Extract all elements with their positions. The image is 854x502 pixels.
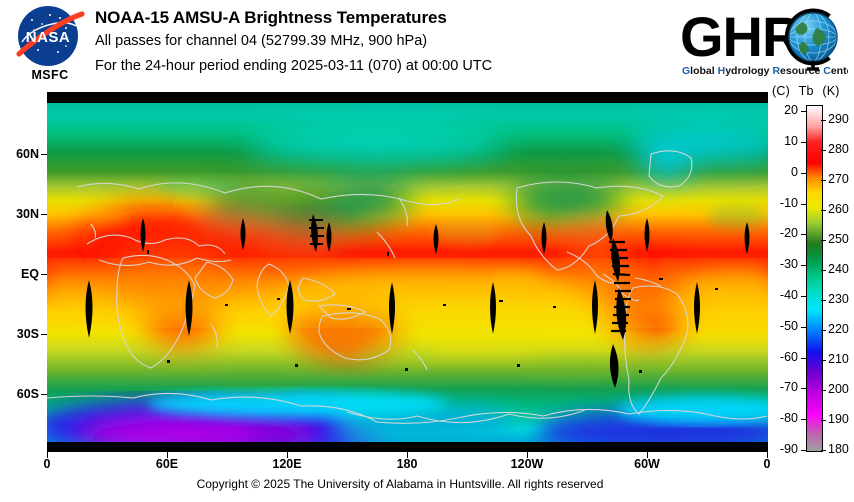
lat-tick-60n [41, 154, 47, 155]
lat-label-eq: EQ [0, 267, 39, 281]
colorbar-tick-c--70 [801, 388, 806, 389]
colorbar-tick-c--90 [801, 450, 806, 451]
colorbar-tick-k-240 [821, 270, 826, 271]
colorbar-label-k-180: 180 [828, 442, 854, 456]
copyright-text: Copyright © 2025 The University of Alaba… [0, 477, 800, 491]
colorbar-header: (C) Tb (K) [772, 84, 854, 98]
colorbar-tick-c--80 [801, 419, 806, 420]
nasa-logo: NASA MSFC [14, 4, 86, 86]
colorbar-tick-k-230 [821, 300, 826, 301]
lat-label-30n: 30N [0, 207, 39, 221]
nasa-center-label: MSFC [14, 68, 86, 82]
colorbar-label-k-230: 230 [828, 292, 854, 306]
lon-label-60w: 60W [622, 457, 672, 471]
lat-tick-60s [41, 394, 47, 395]
lon-label-180: 180 [382, 457, 432, 471]
colorbar-label-c--50: -50 [764, 319, 798, 333]
lat-tick-eq [41, 274, 47, 275]
page-title: NOAA-15 AMSU-A Brightness Temperatures [95, 8, 447, 28]
colorbar-label-c-0: 0 [764, 165, 798, 179]
nasa-meatball-icon: NASA [14, 4, 86, 68]
colorbar-tick-c--30 [801, 265, 806, 266]
ghrc-logo-icon: GHR Global Hydrology Resource Center [676, 4, 848, 82]
colorbar-tick-k-210 [821, 360, 826, 361]
colorbar-label-k-190: 190 [828, 412, 854, 426]
colorbar-tick-c--40 [801, 296, 806, 297]
colorbar-tick-k-270 [821, 180, 826, 181]
colorbar-label-k-210: 210 [828, 352, 854, 366]
lon-label-0: 0 [22, 457, 72, 471]
colorbar-label-k-240: 240 [828, 262, 854, 276]
ghrc-logo: GHR Global Hydrology Resource Center [676, 4, 848, 82]
colorbar-label-k-220: 220 [828, 322, 854, 336]
svg-text:GHR: GHR [680, 5, 802, 68]
lat-label-60s: 60S [0, 387, 39, 401]
svg-text:Global Hydrology Resource Cent: Global Hydrology Resource Center [682, 65, 848, 77]
colorbar-tick-c--10 [801, 204, 806, 205]
colorbar-label-c--10: -10 [764, 196, 798, 210]
colorbar-tick-k-180 [821, 450, 826, 451]
colorbar-tick-k-260 [821, 210, 826, 211]
colorbar-gradient [807, 106, 822, 451]
colorbar-label-k-200: 200 [828, 382, 854, 396]
map-canvas [47, 92, 768, 452]
colorbar-label-k-290: 290 [828, 112, 854, 126]
colorbar-label-c--20: -20 [764, 226, 798, 240]
colorbar-unit-celsius: (C) [772, 84, 790, 98]
colorbar-label-k-280: 280 [828, 142, 854, 156]
colorbar-label-k-250: 250 [828, 232, 854, 246]
colorbar-label-k-260: 260 [828, 202, 854, 216]
lat-label-60n: 60N [0, 147, 39, 161]
colorbar-tick-c-20 [801, 111, 806, 112]
lat-tick-30n [41, 214, 47, 215]
lon-label-60e: 60E [142, 457, 192, 471]
colorbar-tick-c-10 [801, 142, 806, 143]
colorbar-label-c--30: -30 [764, 257, 798, 271]
colorbar-tick-c--20 [801, 234, 806, 235]
colorbar-tick-k-200 [821, 390, 826, 391]
colorbar-label-c--90: -90 [764, 442, 798, 456]
lat-label-30s: 30S [0, 327, 39, 341]
colorbar-label-c--40: -40 [764, 288, 798, 302]
colorbar[interactable] [806, 105, 823, 452]
colorbar-tick-k-250 [821, 240, 826, 241]
lat-tick-30s [41, 334, 47, 335]
lon-label-120e: 120E [262, 457, 312, 471]
colorbar-tick-k-290 [821, 120, 826, 121]
brightness-temperature-map[interactable] [47, 92, 768, 452]
colorbar-tick-c--50 [801, 327, 806, 328]
svg-text:NASA: NASA [26, 29, 71, 46]
colorbar-label-c-20: 20 [764, 103, 798, 117]
colorbar-tick-k-190 [821, 420, 826, 421]
colorbar-quantity-label: Tb [799, 84, 814, 98]
colorbar-tick-k-280 [821, 150, 826, 151]
lon-label-120w: 120W [502, 457, 552, 471]
colorbar-tick-c--60 [801, 358, 806, 359]
colorbar-label-k-270: 270 [828, 172, 854, 186]
colorbar-label-c--70: -70 [764, 380, 798, 394]
colorbar-tick-c-0 [801, 173, 806, 174]
page-subtitle-period: For the 24-hour period ending 2025-03-11… [95, 58, 492, 74]
colorbar-tick-k-220 [821, 330, 826, 331]
colorbar-label-c--60: -60 [764, 350, 798, 364]
colorbar-label-c-10: 10 [764, 134, 798, 148]
page-subtitle-channel: All passes for channel 04 (52799.39 MHz,… [95, 33, 427, 49]
colorbar-label-c--80: -80 [764, 411, 798, 425]
lon-label-360: 0 [742, 457, 792, 471]
colorbar-unit-kelvin: (K) [822, 84, 839, 98]
